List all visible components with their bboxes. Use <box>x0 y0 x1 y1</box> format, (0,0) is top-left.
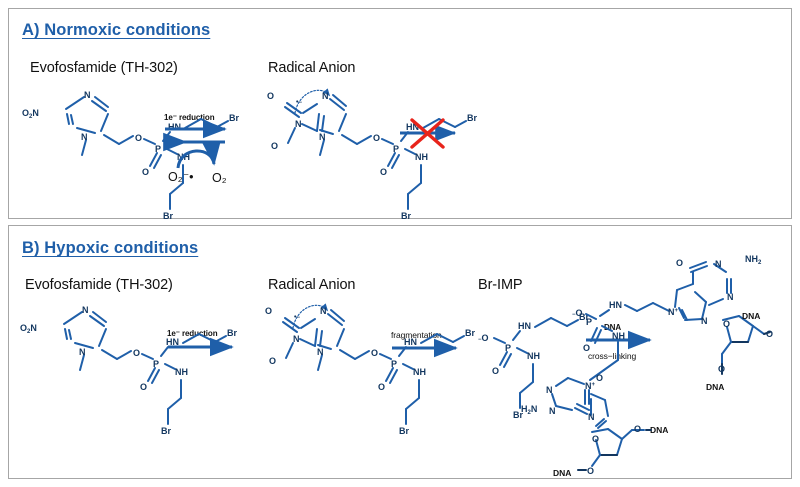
caption-radical-anion-a: Radical Anion <box>268 60 355 76</box>
label-reduction-a: 1e⁻ reduction <box>164 113 215 122</box>
panel-b-title: B) Hypoxic conditions <box>22 239 198 258</box>
panel-a-title: A) Normoxic conditions <box>22 21 210 40</box>
label-dioxygen: O₂ <box>212 171 227 185</box>
caption-radical-anion-b: Radical Anion <box>268 277 355 293</box>
caption-evofosfamide-a: Evofosfamide (TH-302) <box>30 60 178 76</box>
caption-br-imp: Br-IMP <box>478 277 523 293</box>
label-cross-linking: cross−linking <box>588 351 636 361</box>
caption-evofosfamide-b: Evofosfamide (TH-302) <box>25 277 173 293</box>
label-superoxide: O₂⁻• <box>168 169 194 184</box>
panel-hypoxic <box>8 225 792 479</box>
label-reduction-b: 1e⁻ reduction <box>167 329 218 338</box>
label-fragmentation: fragmentation <box>391 330 442 340</box>
label-dna: DNA <box>604 323 621 332</box>
figure-canvas: A) Normoxic conditions B) Hypoxic condit… <box>0 0 800 487</box>
